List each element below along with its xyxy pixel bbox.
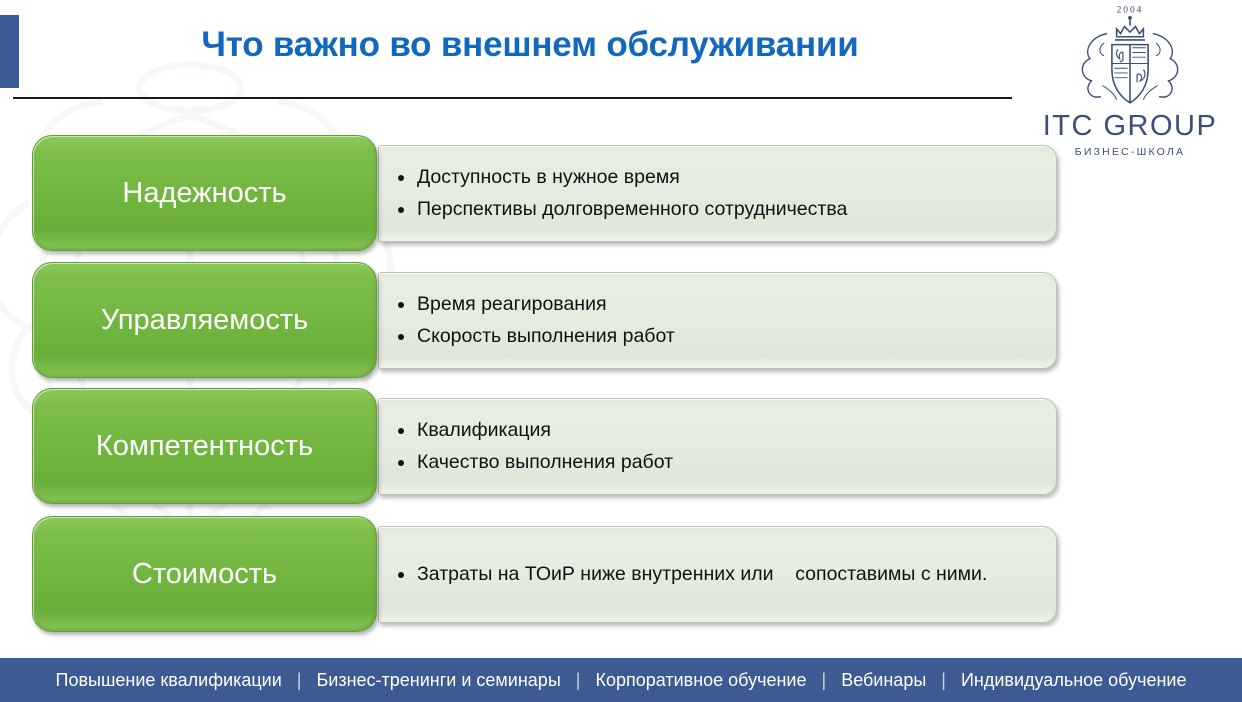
slide-canvas: Что важно во внешнем обслуживании 2004 [0,0,1242,702]
table-row: Стоимость Затраты на ТОиР ниже внутренни… [0,516,1100,630]
footer-link-trainings[interactable]: Бизнес-тренинги и семинары [314,671,562,689]
category-label: Надежность [114,178,294,208]
list-item: Затраты на ТОиР ниже внутренних или сопо… [413,559,1038,591]
list-item: Квалификация [413,415,1038,447]
footer-link-corporate[interactable]: Корпоративное обучение [593,671,808,689]
table-row: Надежность Доступность в нужное время Пе… [0,135,1100,249]
category-label: Управляемость [93,305,317,335]
footer-separator: | [563,671,594,689]
bullet-list: Затраты на ТОиР ниже внутренних или сопо… [391,559,1038,591]
detail-panel-reliability: Доступность в нужное время Перспективы д… [378,145,1057,242]
table-row: Управляемость Время реагирования Скорост… [0,262,1100,376]
category-chip-manageability[interactable]: Управляемость [32,262,377,378]
footer-link-qualification[interactable]: Повышение квалификации [54,671,284,689]
logo-subtitle: БИЗНЕС-ШКОЛА [1034,147,1226,158]
category-label: Стоимость [124,559,285,589]
list-item: Качество выполнения работ [413,447,1038,479]
list-item: Скорость выполнения работ [413,321,1038,353]
bullet-list: Квалификация Качество выполнения работ [391,415,1038,478]
detail-panel-competence: Квалификация Качество выполнения работ [378,398,1057,495]
footer-separator: | [284,671,315,689]
category-chip-competence[interactable]: Компетентность [32,388,377,504]
title-divider [13,97,1012,99]
category-label: Компетентность [88,431,321,461]
footer-link-webinars[interactable]: Вебинары [839,671,928,689]
list-item: Доступность в нужное время [413,162,1038,194]
detail-panel-manageability: Время реагирования Скорость выполнения р… [378,272,1057,369]
footer-separator: | [928,671,959,689]
svg-text:2004: 2004 [1117,5,1144,15]
page-title: Что важно во внешнем обслуживании [40,24,1020,66]
brand-logo: 2004 ITC GROUP БИЗНЕ [1034,2,1226,158]
list-item: Перспективы долговременного сотрудничест… [413,194,1038,226]
footer-bar: Повышение квалификации | Бизнес-тренинги… [0,658,1242,702]
table-row: Компетентность Квалификация Качество вып… [0,388,1100,502]
footer-link-individual[interactable]: Индивидуальное обучение [959,671,1189,689]
footer-nav: Повышение квалификации | Бизнес-тренинги… [54,671,1189,689]
list-item: Время реагирования [413,289,1038,321]
category-chip-cost[interactable]: Стоимость [32,516,377,632]
accent-tab [0,15,19,88]
detail-panel-cost: Затраты на ТОиР ниже внутренних или сопо… [378,526,1057,623]
category-chip-reliability[interactable]: Надежность [32,135,377,251]
footer-separator: | [809,671,840,689]
crest-icon: 2004 [1071,2,1189,114]
bullet-list: Доступность в нужное время Перспективы д… [391,162,1038,225]
logo-wordmark: ITC GROUP [1034,112,1226,141]
bullet-list: Время реагирования Скорость выполнения р… [391,289,1038,352]
